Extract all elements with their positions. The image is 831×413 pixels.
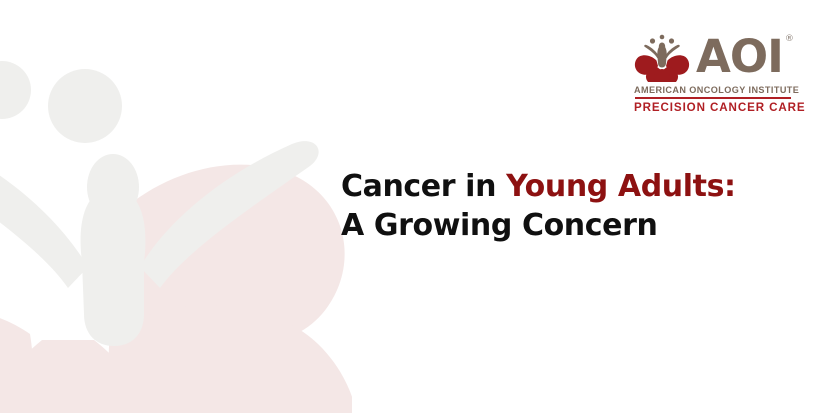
page-title: Cancer in Young Adults: A Growing Concer… (341, 167, 736, 245)
logo-divider (635, 97, 791, 99)
logo-lockup-row: AOI ® (634, 31, 792, 83)
page-title-line-1-accent: Young Adults: (506, 169, 736, 204)
slide-canvas: AOI ® AMERICAN ONCOLOGY INSTITUTE PRECIS… (0, 0, 831, 413)
aoi-logo: AOI ® AMERICAN ONCOLOGY INSTITUTE PRECIS… (634, 31, 792, 115)
page-title-line-1-plain: Cancer in (341, 169, 506, 204)
watermark-petals (0, 165, 352, 413)
logo-wordmark-wrap: AOI ® (696, 36, 783, 77)
page-title-line-2: A Growing Concern (341, 206, 736, 245)
hibiscus-watermark-icon (0, 0, 352, 413)
logo-wordmark: AOI (696, 36, 783, 77)
logo-tagline-secondary: PRECISION CANCER CARE (634, 101, 792, 114)
registered-trademark-icon: ® (785, 35, 794, 44)
watermark-stamens (0, 61, 319, 346)
logo-tagline-primary: AMERICAN ONCOLOGY INSTITUTE (634, 85, 792, 95)
page-title-line-1: Cancer in Young Adults: (341, 167, 736, 206)
hibiscus-flower-icon (634, 32, 690, 82)
